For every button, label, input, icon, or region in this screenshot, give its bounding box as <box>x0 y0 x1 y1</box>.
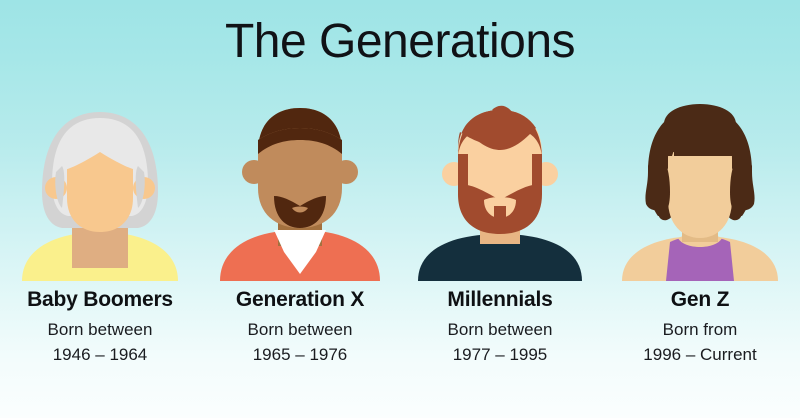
generation-label-block: Gen Z Born from 1996 – Current <box>600 287 800 368</box>
generation-born-label: Born from <box>600 318 800 343</box>
generations-infographic: The Generations <box>0 0 800 418</box>
generation-card-generation-x: Generation X Born between 1965 – 1976 <box>200 96 400 368</box>
generation-years: 1996 – Current <box>600 343 800 368</box>
generation-years: 1977 – 1995 <box>400 343 600 368</box>
generation-label-block: Millennials Born between 1977 – 1995 <box>400 287 600 368</box>
generation-label-block: Baby Boomers Born between 1946 – 1964 <box>0 287 200 368</box>
generation-name: Baby Boomers <box>0 287 200 313</box>
generation-name: Generation X <box>200 287 400 313</box>
avatar-generation-x <box>212 96 388 281</box>
generation-name: Gen Z <box>600 287 800 313</box>
avatar-gen-z <box>612 96 788 281</box>
generation-years: 1965 – 1976 <box>200 343 400 368</box>
generation-label-block: Generation X Born between 1965 – 1976 <box>200 287 400 368</box>
generation-years: 1946 – 1964 <box>0 343 200 368</box>
generation-card-gen-z: Gen Z Born from 1996 – Current <box>600 96 800 368</box>
generation-card-row: Baby Boomers Born between 1946 – 1964 <box>0 96 800 368</box>
generation-born-label: Born between <box>200 318 400 343</box>
generation-born-label: Born between <box>400 318 600 343</box>
generation-born-label: Born between <box>0 318 200 343</box>
generation-name: Millennials <box>400 287 600 313</box>
generation-card-baby-boomers: Baby Boomers Born between 1946 – 1964 <box>0 96 200 368</box>
generation-card-millennials: Millennials Born between 1977 – 1995 <box>400 96 600 368</box>
avatar-millennial <box>412 96 588 281</box>
page-title: The Generations <box>0 14 800 69</box>
avatar-baby-boomer <box>12 96 188 281</box>
